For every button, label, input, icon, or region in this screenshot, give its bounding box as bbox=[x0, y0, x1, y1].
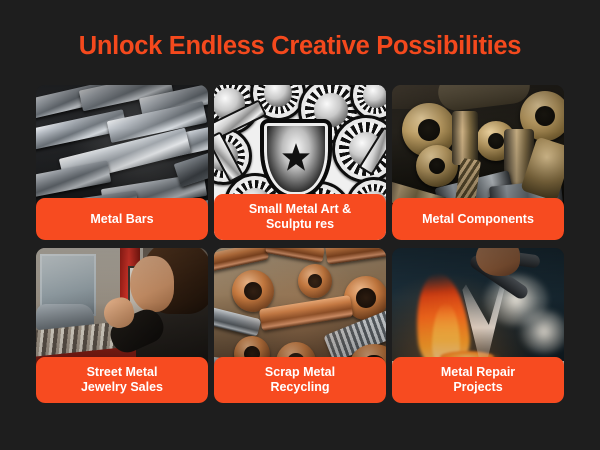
category-card-small-metal-art-sculptures[interactable]: Small Metal Art & Sculptu res bbox=[214, 85, 386, 240]
category-card-metal-components[interactable]: Metal Components bbox=[392, 85, 564, 240]
category-label-line: Small Metal Art & bbox=[249, 202, 351, 217]
page-title: Unlock Endless Creative Possibilities bbox=[0, 32, 600, 61]
category-card-scrap-metal-recycling[interactable]: Scrap Metal Recycling bbox=[214, 248, 386, 403]
category-card-street-metal-jewelry-sales[interactable]: jewelry Street Metal Jewelry Sales bbox=[36, 248, 208, 403]
category-label-line: Recycling bbox=[265, 380, 335, 395]
category-label-line: Scrap Metal bbox=[265, 365, 335, 380]
category-label-line: Metal Repair bbox=[441, 365, 515, 380]
category-label-metal-components[interactable]: Metal Components bbox=[392, 198, 564, 240]
category-card-metal-bars[interactable]: Metal Bars bbox=[36, 85, 208, 240]
category-card-metal-repair-projects[interactable]: Metal Repair Projects bbox=[392, 248, 564, 403]
category-label-line: Street Metal bbox=[81, 365, 163, 380]
category-label-metal-repair-projects[interactable]: Metal Repair Projects bbox=[392, 357, 564, 403]
category-label-metal-bars[interactable]: Metal Bars bbox=[36, 198, 208, 240]
category-label-line: Sculptu res bbox=[249, 217, 351, 232]
category-label-small-metal-art-sculptures[interactable]: Small Metal Art & Sculptu res bbox=[214, 194, 386, 240]
category-label-line: Jewelry Sales bbox=[81, 380, 163, 395]
category-label-line: Metal Components bbox=[422, 212, 534, 227]
category-label-line: Projects bbox=[441, 380, 515, 395]
category-label-street-metal-jewelry-sales[interactable]: Street Metal Jewelry Sales bbox=[36, 357, 208, 403]
category-label-scrap-metal-recycling[interactable]: Scrap Metal Recycling bbox=[214, 357, 386, 403]
category-card-grid: Metal Bars Small Metal Art & Sculptu res bbox=[36, 85, 564, 403]
poster-root: Unlock Endless Creative Possibilities Me… bbox=[0, 0, 600, 450]
category-label-line: Metal Bars bbox=[90, 212, 153, 227]
